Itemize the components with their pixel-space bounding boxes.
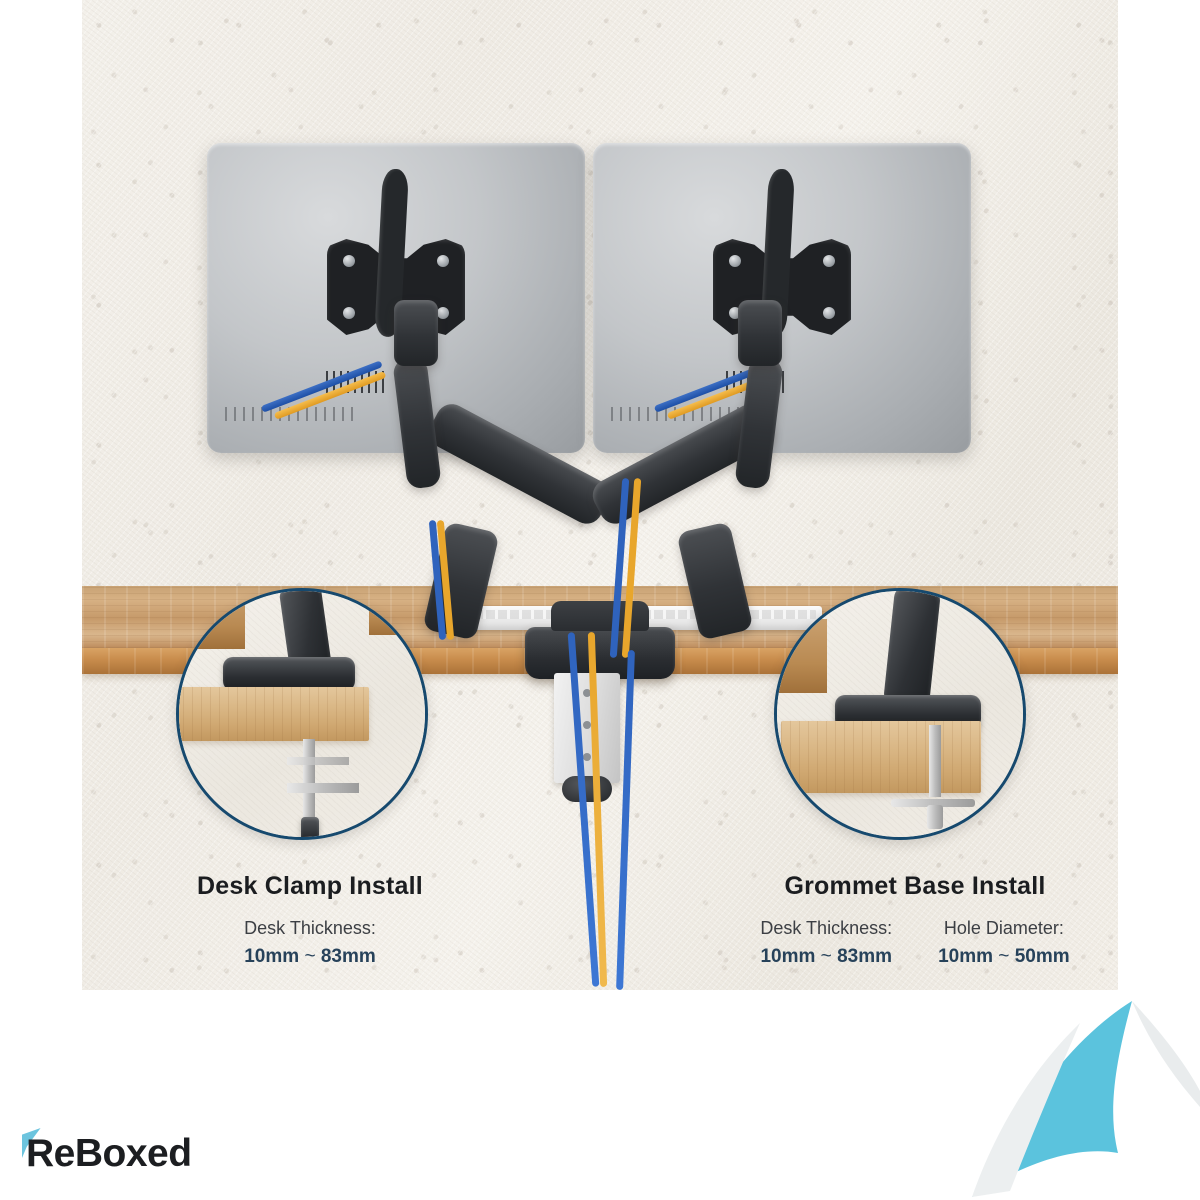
- vesa-screw-icon: [343, 307, 355, 319]
- callout-desk-clamp: [176, 588, 428, 840]
- vesa-screw-icon: [437, 255, 449, 267]
- spec-max: 83mm: [321, 946, 376, 967]
- spec-desk-thickness: Desk Thickness: 10mm ~ 83mm: [760, 918, 892, 968]
- spec-hole-diameter: Hole Diameter: 10mm ~ 50mm: [938, 918, 1070, 968]
- method-title: Grommet Base Install: [700, 872, 1130, 901]
- spec-max: 83mm: [837, 946, 892, 967]
- spec-separator: ~: [998, 946, 1009, 967]
- brand-logo: ReBoxed: [26, 1132, 192, 1176]
- spec-label: Desk Thickness:: [760, 918, 892, 939]
- vesa-screw-icon: [437, 307, 449, 319]
- spec-label: Desk Thickness:: [244, 918, 376, 939]
- vesa-screw-icon: [823, 255, 835, 267]
- method-title: Desk Clamp Install: [100, 872, 520, 901]
- clamp-knob: [562, 776, 612, 802]
- clamp-screw-icon: [583, 721, 591, 729]
- vesa-screw-icon: [343, 255, 355, 267]
- product-photo: [82, 0, 1118, 990]
- callout-grommet-nut: [927, 805, 943, 829]
- callout-desk-plank: [781, 721, 981, 793]
- spec-value: 10mm ~ 50mm: [938, 946, 1070, 968]
- brand-name: ReBoxed: [26, 1132, 192, 1176]
- spec-separator: ~: [821, 946, 832, 967]
- callout-clamp-knob: [301, 817, 319, 840]
- spec-desk-thickness: Desk Thickness: 10mm ~ 83mm: [244, 918, 376, 968]
- callout-grommet-bolt: [929, 725, 941, 797]
- spec-min: 10mm: [938, 946, 993, 967]
- monitor-right: [593, 143, 971, 453]
- mount-base: [525, 627, 675, 679]
- spec-min: 10mm: [244, 946, 299, 967]
- method-label-desk-clamp: Desk Clamp Install Desk Thickness: 10mm …: [100, 872, 520, 968]
- callout-desk-corner: [176, 591, 245, 649]
- spec-value: 10mm ~ 83mm: [244, 946, 376, 968]
- spec-value: 10mm ~ 83mm: [760, 946, 892, 968]
- monitor-left: [207, 143, 585, 453]
- desk-clamp-bracket: [554, 673, 620, 783]
- vesa-screw-icon: [729, 255, 741, 267]
- callout-desk-corner-2: [369, 591, 428, 635]
- clamp-screw-icon: [583, 753, 591, 761]
- callout-desk-corner: [774, 619, 827, 693]
- spec-min: 10mm: [760, 946, 815, 967]
- arm-joint-right: [738, 300, 782, 366]
- spec-max: 50mm: [1015, 946, 1070, 967]
- method-label-grommet-base: Grommet Base Install Desk Thickness: 10m…: [700, 872, 1130, 968]
- spec-row: Desk Thickness: 10mm ~ 83mm: [100, 918, 520, 968]
- vesa-screw-icon: [823, 307, 835, 319]
- arm-joint-left: [394, 300, 438, 366]
- spec-label: Hole Diameter:: [938, 918, 1070, 939]
- callout-mount-foot: [223, 657, 355, 691]
- spec-row: Desk Thickness: 10mm ~ 83mm Hole Diamete…: [700, 918, 1130, 968]
- spec-separator: ~: [304, 946, 315, 967]
- callout-clamp-arm: [287, 783, 359, 793]
- callout-desk-plank: [176, 687, 369, 741]
- callout-clamp-arm-2: [287, 757, 349, 765]
- callout-grommet-base: [774, 588, 1026, 840]
- swoosh-corner-icon: [962, 995, 1200, 1200]
